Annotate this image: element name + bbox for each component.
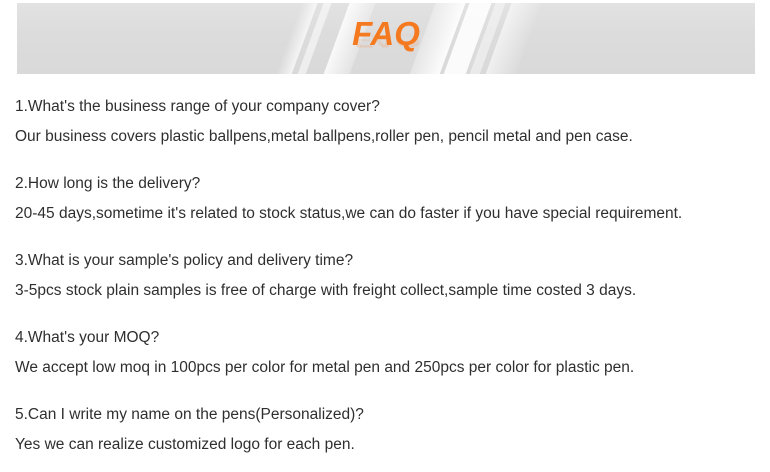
faq-answer: 3-5pcs stock plain samples is free of ch… (15, 276, 770, 306)
faq-item: 4.What's your MOQ? We accept low moq in … (15, 323, 770, 383)
faq-item: 5.Can I write my name on the pens(Person… (15, 400, 770, 460)
faq-answer: 20-45 days,sometime it's related to stoc… (15, 199, 770, 229)
faq-question: 2.How long is the delivery? (15, 169, 770, 199)
faq-answer: Our business covers plastic ballpens,met… (15, 122, 770, 152)
faq-item: 2.How long is the delivery? 20-45 days,s… (15, 169, 770, 229)
banner-background: FAQ FAQ (17, 3, 755, 74)
faq-item: 1.What's the business range of your comp… (15, 92, 770, 152)
faq-answer: We accept low moq in 100pcs per color fo… (15, 353, 770, 383)
faq-banner: FAQ FAQ (0, 0, 770, 78)
faq-item: 3.What is your sample's policy and deliv… (15, 246, 770, 306)
faq-list: 1.What's the business range of your comp… (0, 78, 770, 460)
faq-question: 1.What's the business range of your comp… (15, 92, 770, 122)
faq-question: 5.Can I write my name on the pens(Person… (15, 400, 770, 430)
faq-question: 4.What's your MOQ? (15, 323, 770, 353)
faq-question: 3.What is your sample's policy and deliv… (15, 246, 770, 276)
faq-answer: Yes we can realize customized logo for e… (15, 430, 770, 460)
page-title: FAQ (17, 17, 755, 50)
